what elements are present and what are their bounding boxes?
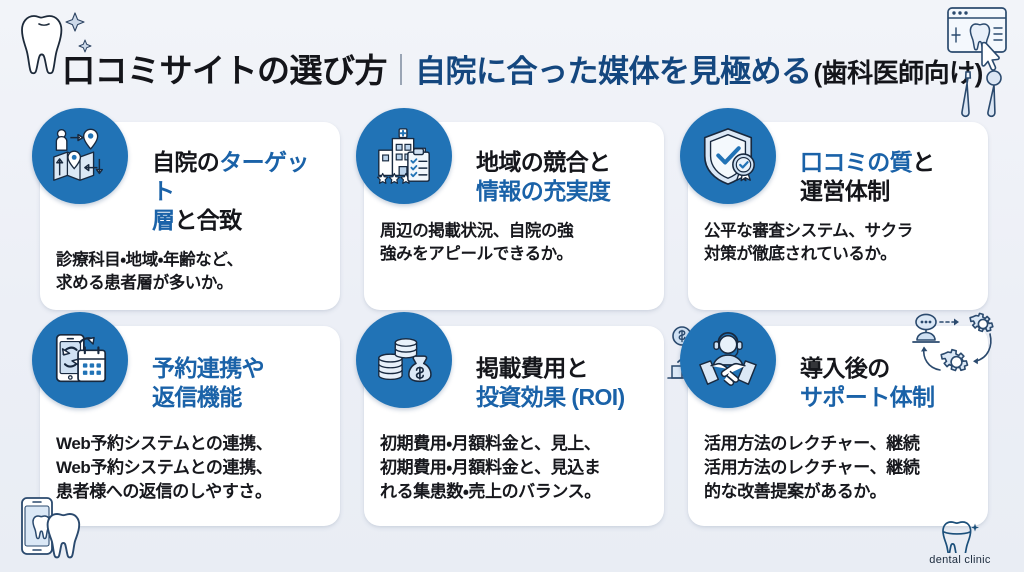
body-line: 活用方法のレクチャー、継続 [704,456,972,480]
heading-line1-plain: 地域の競合と [476,149,610,175]
handshake-support-icon [680,312,776,408]
body-line: 周辺の掲載状況、自院の強 [380,220,648,243]
brand-logo: dental clinic [910,519,1010,566]
browser-tooth-cursor-icon [932,2,1016,120]
card-review-quality[interactable]: 口コミの質と 運営体制 公平な審査システム、サクラ 対策が徹底されているか。 [688,122,988,310]
criteria-card-grid: 自院のターゲット 層と合致 診療科目・地域・年齢など、 求める患者層が多いか。 [40,122,988,526]
heading-line2-plain: と合致 [174,207,241,233]
title-main: 口コミサイトの選び方 [62,44,387,92]
card-cost-roi[interactable]: 掲載費用と 投資効果 (ROI) 初期費用・月額料金と、見上、 初期費用・月額料… [364,326,664,526]
heading-line2-accent: 情報の充実度 [476,178,610,204]
heading-line1-plain: 掲載費用と [476,355,588,381]
heading-line1-accent: 予約連携や [152,355,264,381]
heading-line2-accent: 層 [152,207,174,233]
heading-line2-plain: 運営体制 [800,178,890,204]
card-heading: 自院のターゲット 層と合致 [152,136,324,235]
body-line: 強みをアピールできるか。 [380,243,648,266]
card-body: 周辺の掲載状況、自院の強 強みをアピールできるか。 [380,220,648,267]
tooth-logo-icon [938,519,982,553]
body-line: 対策が徹底されているか。 [704,243,972,266]
body-line: 診療科目・地域・年齢など、 [56,249,324,272]
body-line: Web予約システムとの連携、 [56,432,324,456]
coins-money-bag-icon [356,312,452,408]
body-line: 初期費用・月額料金と、見込ま [380,456,648,480]
body-line: Web予約システムとの連携、 [56,456,324,480]
card-body: Web予約システムとの連携、 Web予約システムとの連携、 患者様への返信のしや… [56,432,324,504]
card-heading: 掲載費用と 投資効果 (ROI) [476,340,648,412]
body-line: 的な改善提案があるか。 [704,480,972,504]
infographic-canvas: 口コミサイトの選び方 自院に合った媒体を見極める (歯科医師向け) [0,0,1024,572]
body-line: 公平な審査システム、サクラ [704,220,972,243]
support-agent-gears-icon [904,310,996,384]
hospital-checklist-stars-icon [356,108,452,204]
body-line: 患者様への返信のしやすさ。 [56,480,324,504]
heading-line1-plain: 自院の [152,149,219,175]
brand-label: dental clinic [910,554,1010,566]
body-line: 求める患者層が多いか。 [56,272,324,295]
smartphone-teeth-icon [12,494,88,566]
heading-line1-tail: と [912,149,934,175]
shield-check-badge-icon [680,108,776,204]
card-body: 診療科目・地域・年齢など、 求める患者層が多いか。 [56,249,324,296]
body-line: 初期費用・月額料金と、見上、 [380,432,648,456]
header: 口コミサイトの選び方 自院に合った媒体を見極める (歯科医師向け) [0,0,1024,112]
heading-line2-accent: サポート体制 [800,384,934,410]
page-title: 口コミサイトの選び方 自院に合った媒体を見極める (歯科医師向け) [62,44,983,92]
card-heading: 予約連携や 返信機能 [152,340,324,412]
body-line: 活用方法のレクチャー、継続 [704,432,972,456]
card-heading: 口コミの質と 運営体制 [800,136,972,206]
heading-line2-accent: 返信機能 [152,384,242,410]
heading-line1-plain: 導入後の [800,355,890,381]
smartphone-calendar-sync-icon [32,312,128,408]
card-body: 初期費用・月額料金と、見上、 初期費用・月額料金と、見込ま れる集患数・売上のバ… [380,432,648,504]
title-subtitle: 自院に合った媒体を見極める [415,46,812,91]
card-body: 活用方法のレクチャー、継続 活用方法のレクチャー、継続 的な改善提案があるか。 [704,432,972,504]
heading-line2-accent: 投資効果 (ROI) [476,384,625,410]
heading-line1-accent: 口コミの質 [800,149,912,175]
target-audience-map-icon [32,108,128,204]
title-divider [400,54,402,85]
card-heading: 地域の競合と 情報の充実度 [476,136,648,206]
card-post-launch-support[interactable]: 導入後の サポート体制 活用方法のレクチャー、継続 活用方法のレクチャー、継続 … [688,326,988,526]
card-target-audience[interactable]: 自院のターゲット 層と合致 診療科目・地域・年齢など、 求める患者層が多いか。 [40,122,340,310]
card-local-competition[interactable]: 地域の競合と 情報の充実度 周辺の掲載状況、自院の強 強みをアピールできるか。 [364,122,664,310]
card-body: 公平な審査システム、サクラ 対策が徹底されているか。 [704,220,972,267]
body-line: れる集患数・売上のバランス。 [380,480,648,504]
